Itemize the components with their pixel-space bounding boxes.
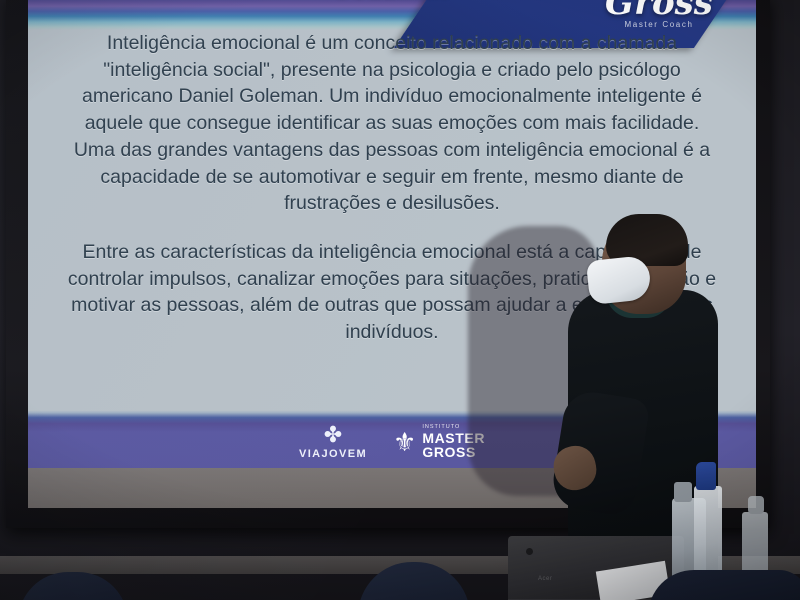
viajovem-logo: ✤ VIAJOVEM xyxy=(299,424,367,460)
photograph: GOLEMAN MASTER Gross Master Coach Inteli… xyxy=(0,0,800,600)
slide-top-band xyxy=(28,0,756,30)
slide-title: GOLEMAN xyxy=(28,0,756,3)
viajovem-logo-text: VIAJOVEM xyxy=(299,448,367,460)
spray-trigger xyxy=(696,462,716,490)
laptop-lid-dot-icon xyxy=(526,548,533,555)
pump-nozzle xyxy=(748,496,764,514)
slide-paragraph-1: Inteligência emocional é um conceito rel… xyxy=(62,30,722,217)
viajovem-logo-icon: ✤ xyxy=(324,424,342,446)
master-gross-lion-icon: ⚜ xyxy=(393,429,416,455)
laptop-brand-text: Acer xyxy=(538,576,552,582)
bottle-cap xyxy=(674,482,692,502)
spray-bottle xyxy=(694,486,722,582)
